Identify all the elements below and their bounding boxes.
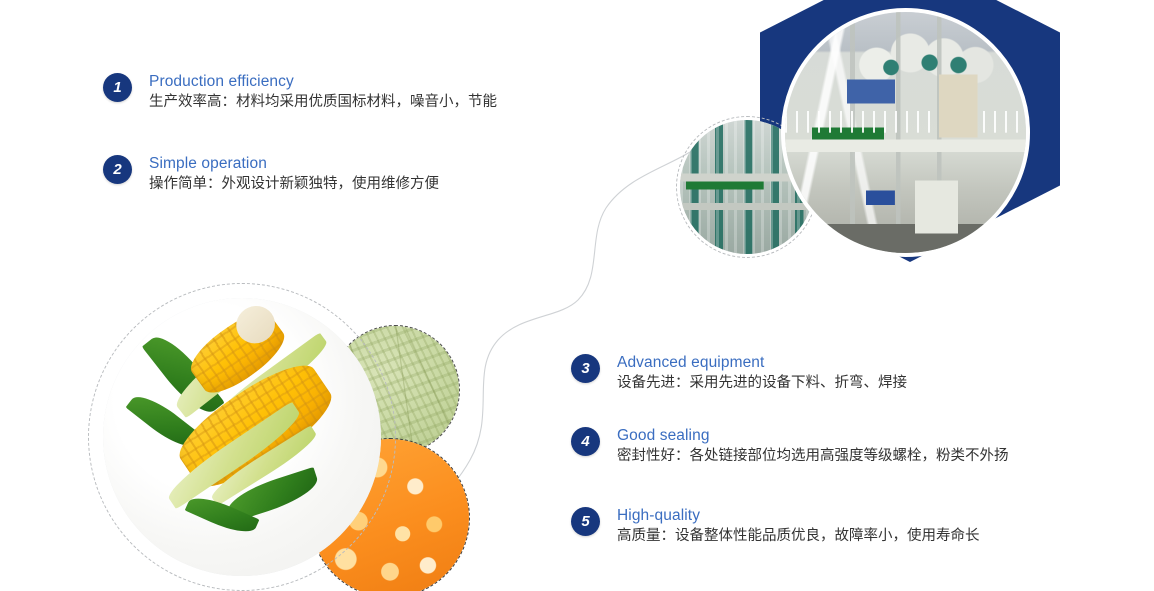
infographic-stage: 1 Production efficiency 生产效率高：材料均采用优质国标材… (0, 0, 1154, 591)
feature-title-5: High-quality (617, 506, 980, 525)
photo-mill-large (781, 8, 1030, 257)
feature-badge-1: 1 (103, 73, 132, 102)
feature-badge-4: 4 (571, 427, 600, 456)
feature-desc-1: 生产效率高：材料均采用优质国标材料，噪音小，节能 (149, 92, 497, 113)
feature-item-1[interactable]: 1 Production efficiency 生产效率高：材料均采用优质国标材… (103, 72, 497, 113)
feature-desc-5: 高质量：设备整体性能品质优良，故障率小，使用寿命长 (617, 526, 980, 547)
feature-desc-3: 设备先进：采用先进的设备下料、折弯、焊接 (617, 373, 907, 394)
corn-cob-dashed-ring (88, 283, 396, 591)
feature-desc-4: 密封性好：各处链接部位均选用高强度等级螺栓，粉类不外扬 (617, 446, 1009, 467)
feature-item-4[interactable]: 4 Good sealing 密封性好：各处链接部位均选用高强度等级螺栓，粉类不… (571, 426, 1009, 467)
feature-title-2: Simple operation (149, 154, 439, 173)
feature-desc-2: 操作简单：外观设计新颖独特，使用维修方便 (149, 174, 439, 195)
feature-item-3[interactable]: 3 Advanced equipment 设备先进：采用先进的设备下料、折弯、焊… (571, 353, 907, 394)
feature-title-3: Advanced equipment (617, 353, 907, 372)
feature-badge-3: 3 (571, 354, 600, 383)
feature-badge-5: 5 (571, 507, 600, 536)
feature-title-1: Production efficiency (149, 72, 497, 91)
feature-item-5[interactable]: 5 High-quality 高质量：设备整体性能品质优良，故障率小，使用寿命长 (571, 506, 980, 547)
feature-title-4: Good sealing (617, 426, 1009, 445)
feature-item-2[interactable]: 2 Simple operation 操作简单：外观设计新颖独特，使用维修方便 (103, 154, 439, 195)
feature-badge-2: 2 (103, 155, 132, 184)
